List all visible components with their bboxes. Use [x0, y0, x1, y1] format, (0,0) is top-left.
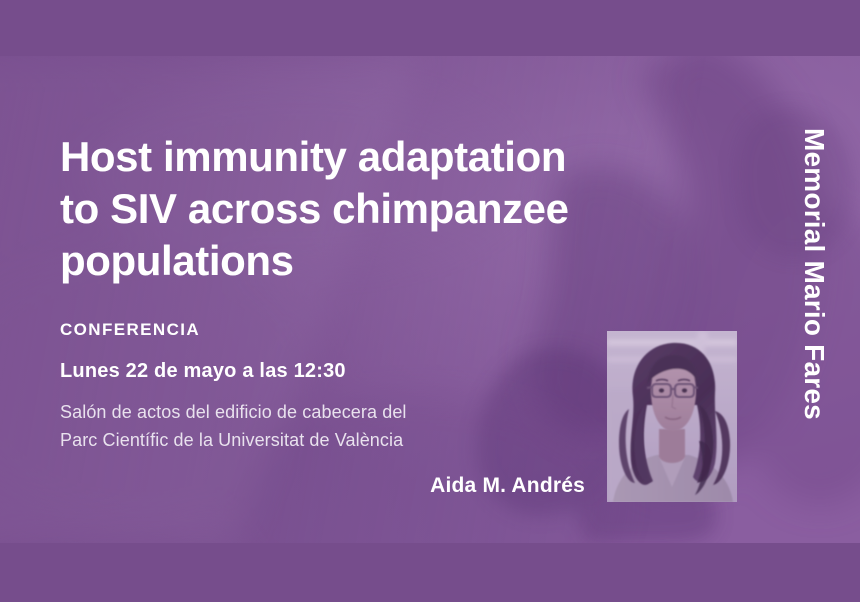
title-line-2: to SIV across chimpanzee [60, 183, 720, 235]
venue-line-1: Salón de actos del edificio de cabecera … [60, 398, 407, 426]
series-label: Memorial Mario Fares [454, 128, 836, 172]
event-type-label: CONFERENCIA [60, 320, 200, 340]
event-venue: Salón de actos del edificio de cabecera … [60, 398, 407, 454]
poster-content: Host immunity adaptation to SIV across c… [60, 0, 720, 602]
speaker-name: Aida M. Andrés [60, 474, 585, 498]
title-line-3: populations [60, 235, 720, 287]
speaker-portrait-photo [607, 331, 737, 502]
event-datetime: Lunes 22 de mayo a las 12:30 [60, 360, 346, 383]
venue-line-2: Parc Científic de la Universitat de Valè… [60, 426, 407, 454]
event-poster: Host immunity adaptation to SIV across c… [0, 0, 860, 602]
